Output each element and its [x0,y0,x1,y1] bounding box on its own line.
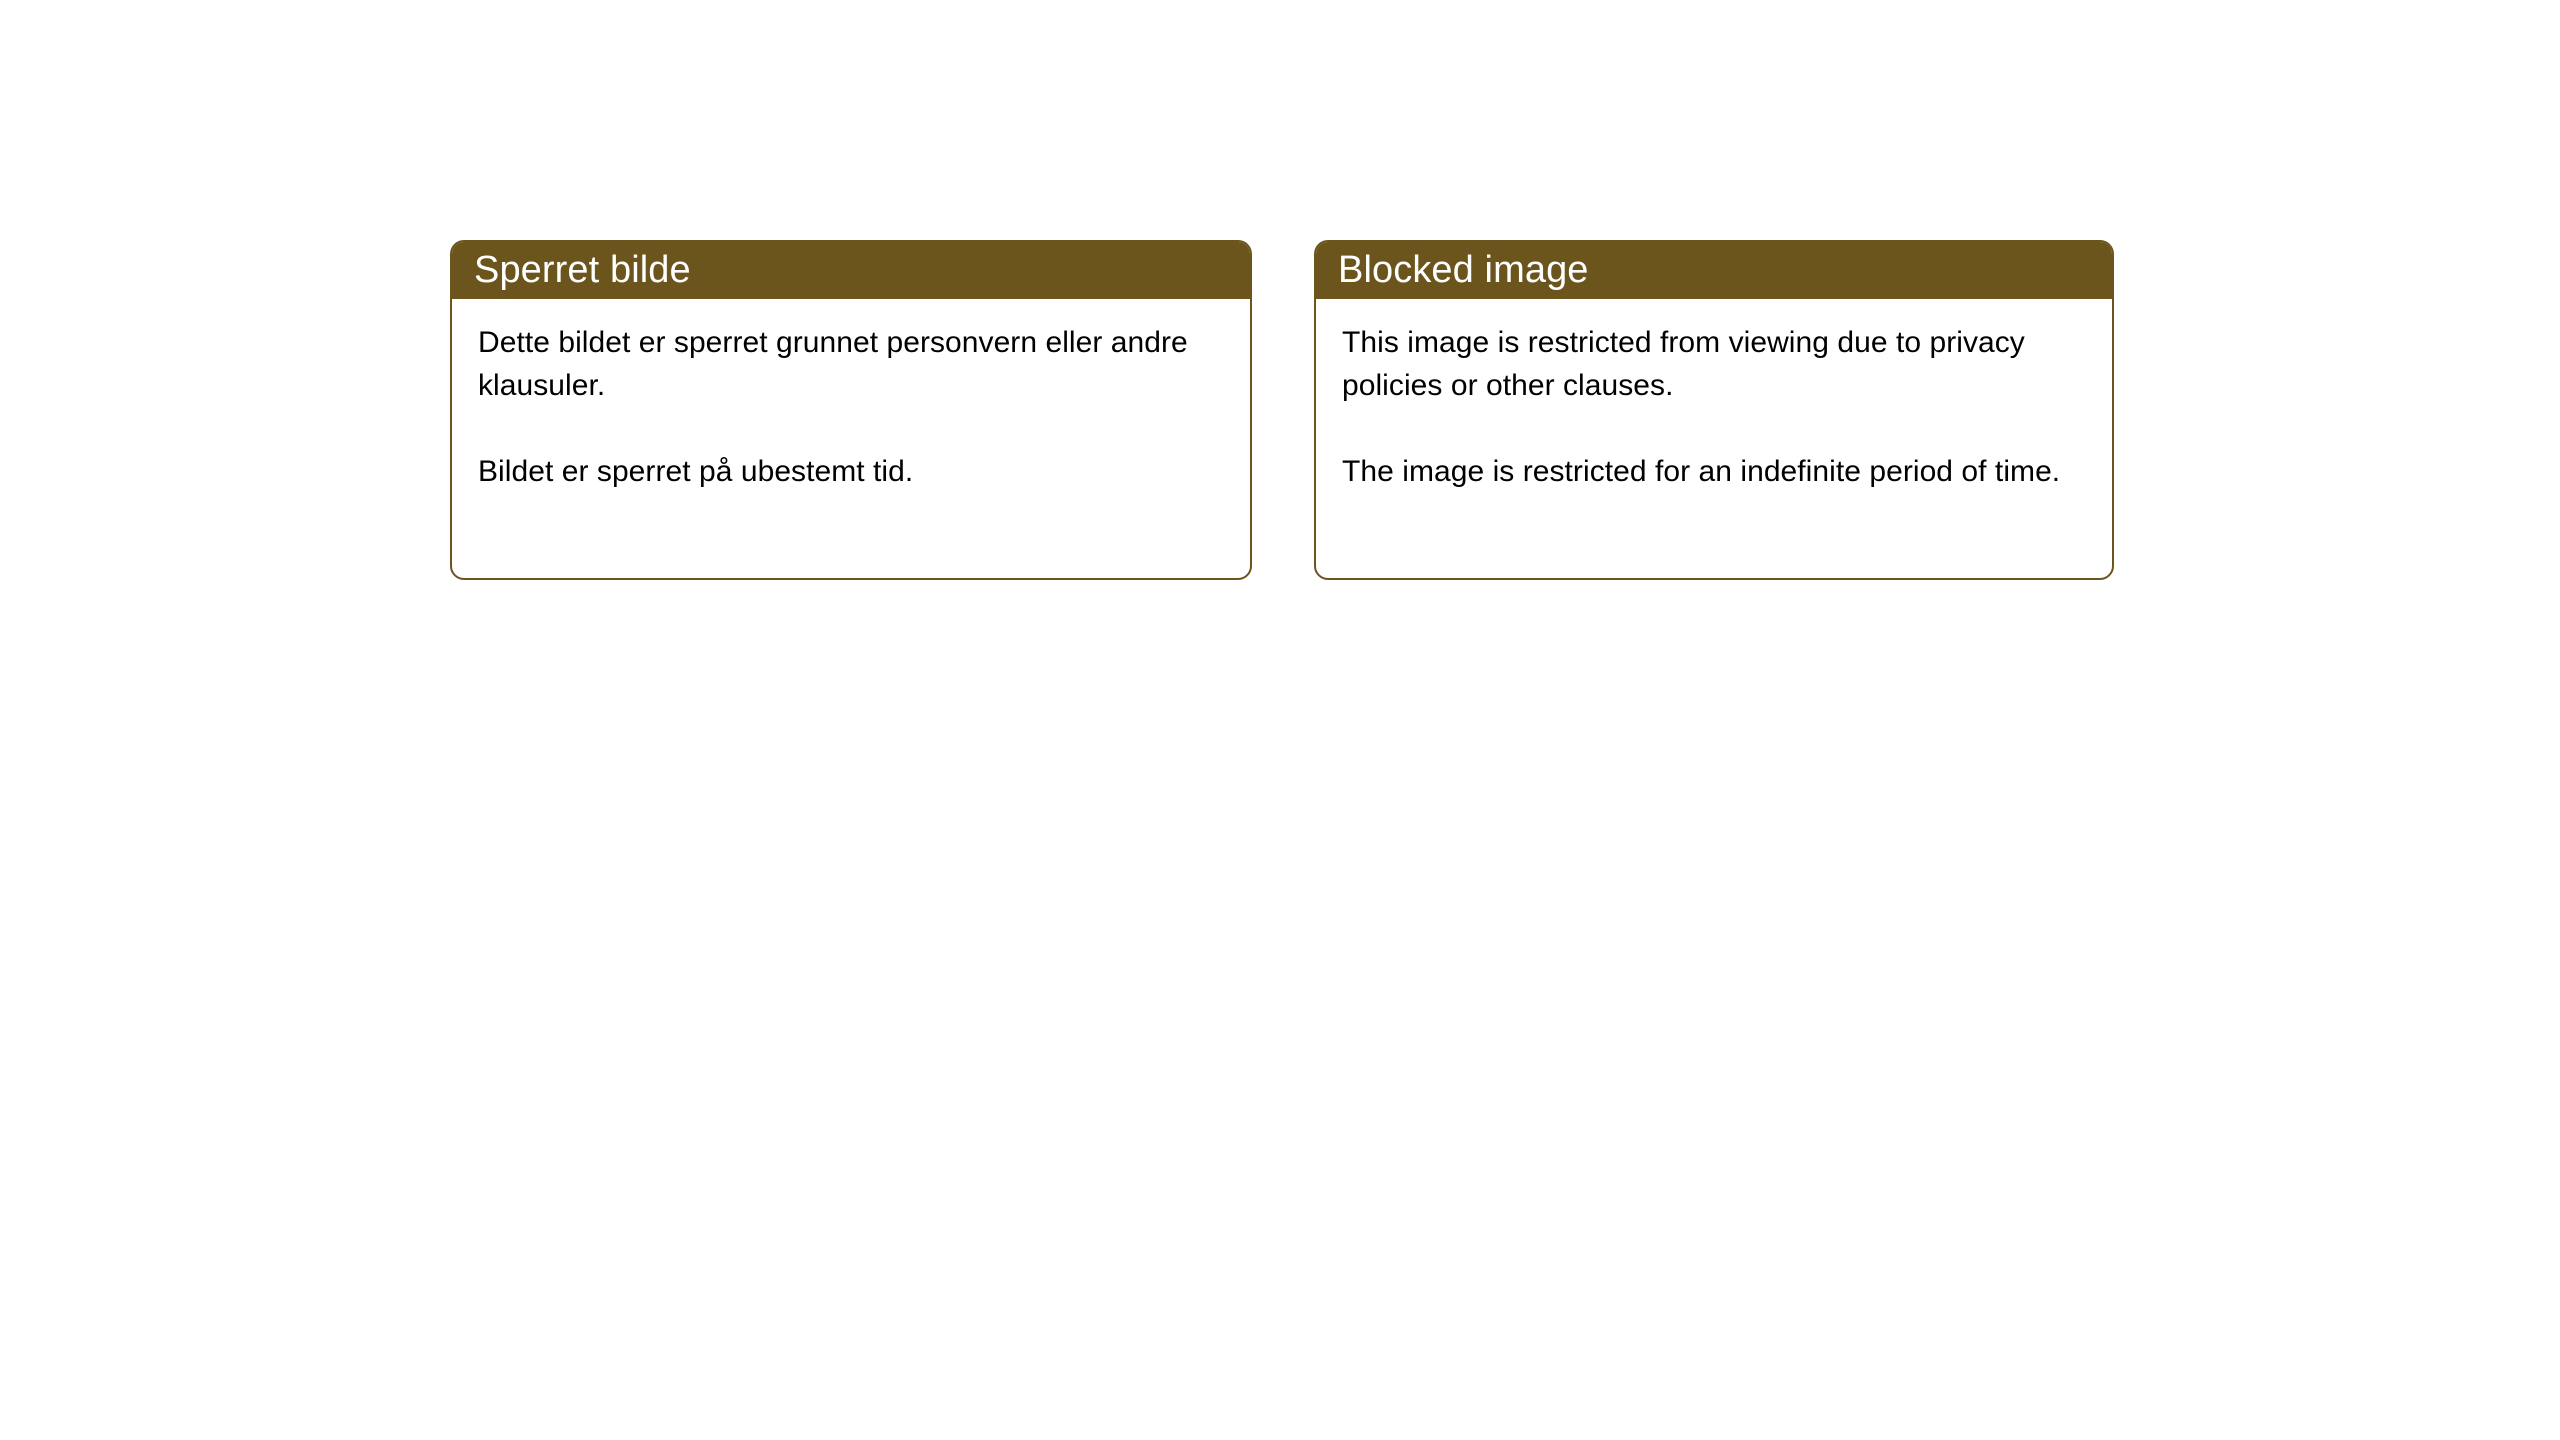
paragraph-spacer [478,407,1224,450]
card-paragraph-secondary-english: The image is restricted for an indefinit… [1342,450,2086,493]
blocked-image-card-english: Blocked image This image is restricted f… [1314,240,2114,580]
card-paragraph-primary-norwegian: Dette bildet er sperret grunnet personve… [478,321,1224,407]
paragraph-spacer [1342,407,2086,450]
page-root: Sperret bilde Dette bildet er sperret gr… [0,0,2560,1440]
card-header-english: Blocked image [1315,241,2113,299]
card-header-norwegian: Sperret bilde [451,241,1251,299]
card-title-norwegian: Sperret bilde [474,249,691,291]
card-body-english: This image is restricted from viewing du… [1316,299,2112,493]
card-paragraph-secondary-norwegian: Bildet er sperret på ubestemt tid. [478,450,1224,493]
blocked-image-card-norwegian: Sperret bilde Dette bildet er sperret gr… [450,240,1252,580]
card-title-english: Blocked image [1338,249,1589,291]
card-paragraph-primary-english: This image is restricted from viewing du… [1342,321,2086,407]
card-body-norwegian: Dette bildet er sperret grunnet personve… [452,299,1250,493]
